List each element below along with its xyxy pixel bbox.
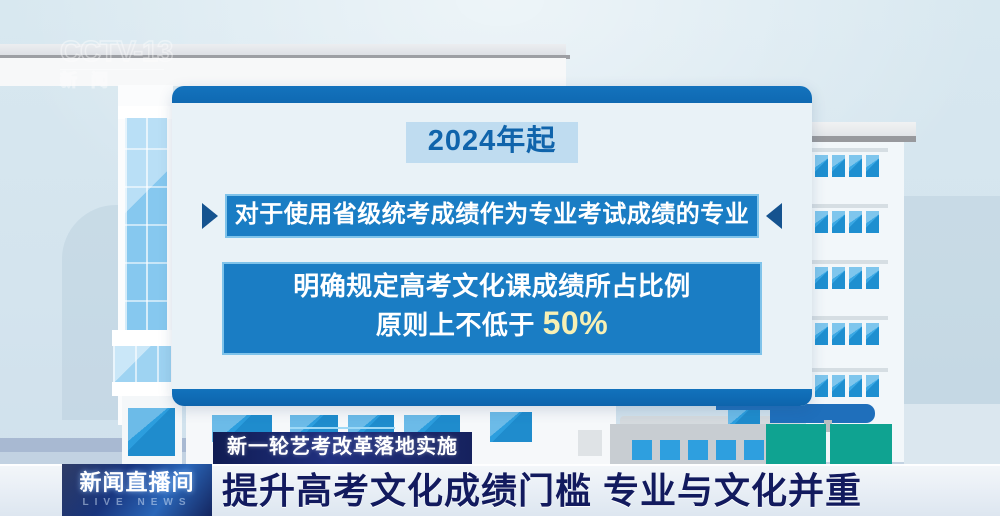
watermark-rule	[60, 69, 164, 70]
right-window-row	[812, 208, 888, 236]
info-card-footer-bar	[172, 389, 812, 406]
right-small-pane	[728, 410, 760, 424]
right-building-roof-lip	[810, 136, 916, 142]
cctv-logo-icon: CCTV-13 新闻	[60, 38, 188, 96]
mid-window-mullion	[290, 427, 395, 429]
left-tower-lower-glass	[113, 346, 171, 382]
triangle-right-icon	[202, 203, 218, 229]
right-window-row	[812, 372, 888, 400]
right-window-row	[812, 320, 888, 348]
policy-percent-value: 50%	[543, 305, 609, 341]
left-tower-midband	[112, 330, 174, 346]
policy-detail-line2-prefix: 原则上不低于	[376, 310, 535, 340]
left-tower-base	[112, 382, 174, 396]
right-far-slab	[904, 404, 1000, 470]
info-card: 2024年起 对于使用省级统考成绩作为专业考试成绩的专业 明确规定高考文化课成绩…	[172, 86, 812, 406]
program-badge-subtitle: LIVE NEWS	[62, 497, 212, 508]
policy-scope-band: 对于使用省级统考成绩作为专业考试成绩的专业	[225, 194, 760, 238]
grey-building-window	[660, 440, 680, 460]
watermark-channel: CCTV-13	[60, 38, 188, 67]
grey-building-window	[632, 440, 652, 460]
info-card-header-bar	[172, 86, 812, 103]
triangle-left-icon	[766, 203, 782, 229]
grey-building-window	[716, 440, 736, 460]
broadcast-frame: 2024年起 对于使用省级统考成绩作为专业考试成绩的专业 明确规定高考文化课成绩…	[0, 0, 1000, 516]
program-badge: 新闻直播间 LIVE NEWS	[62, 464, 212, 516]
headline-text: 提升高考文化成绩门槛 专业与文化并重	[222, 468, 862, 514]
policy-detail-line2: 原则上不低于 50%	[224, 303, 760, 344]
grey-building-window	[688, 440, 708, 460]
program-badge-title: 新闻直播间	[62, 471, 212, 495]
kicker-text: 新一轮艺考改革落地实施	[227, 436, 458, 458]
mid-window-pane	[490, 412, 532, 442]
year-badge-wrap: 2024年起	[172, 122, 812, 163]
policy-scope-row: 对于使用省级统考成绩作为专业考试成绩的专业	[172, 194, 812, 238]
left-tower-glass-curtain	[125, 118, 167, 340]
grey-building-window	[744, 440, 764, 460]
left-window-pane	[128, 408, 175, 456]
right-window-row	[812, 264, 888, 292]
kicker-bar: 新一轮艺考改革落地实施	[213, 432, 472, 464]
policy-detail-line1: 明确规定高考文化课成绩所占比例	[224, 270, 760, 303]
policy-detail-band: 明确规定高考文化课成绩所占比例 原则上不低于 50%	[222, 262, 762, 355]
small-white-block	[578, 430, 602, 456]
right-building-roof	[810, 122, 916, 136]
watermark-sub: 新闻	[60, 72, 188, 91]
right-ledge-bar	[770, 404, 875, 423]
right-window-row	[812, 152, 888, 180]
year-badge: 2024年起	[406, 122, 579, 163]
